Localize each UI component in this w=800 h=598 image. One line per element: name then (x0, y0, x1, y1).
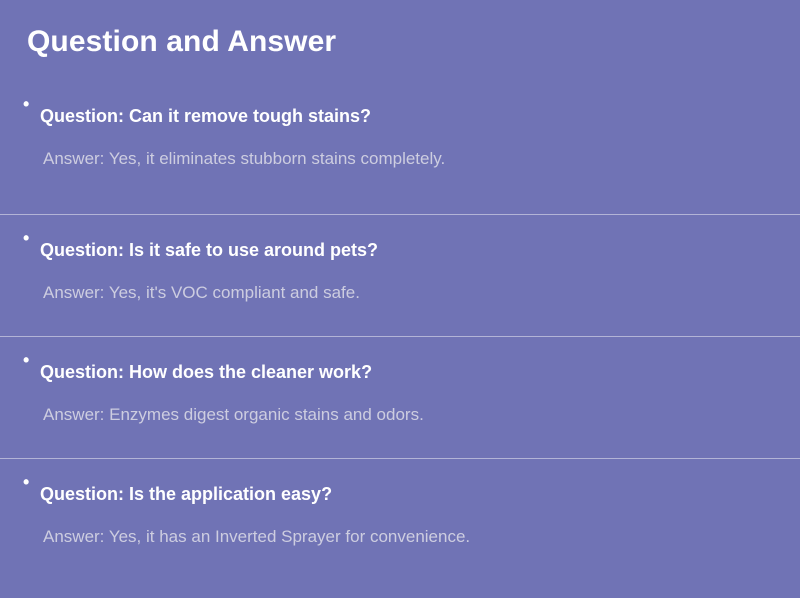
qa-question-text: Question: Is the application easy? (40, 484, 332, 504)
qa-question-text: Question: Is it safe to use around pets? (40, 240, 378, 260)
list-item: • Question: Is it safe to use around pet… (0, 214, 800, 336)
bullet-icon: • (23, 470, 29, 494)
list-item: • Question: How does the cleaner work? A… (0, 336, 800, 458)
qa-slide: Question and Answer • Question: Can it r… (0, 0, 800, 598)
list-item: • Question: Can it remove tough stains? … (0, 92, 800, 214)
qa-answer: Answer: Yes, it eliminates stubborn stai… (0, 128, 800, 170)
qa-answer: Answer: Yes, it has an Inverted Sprayer … (0, 506, 800, 548)
qa-question: • Question: How does the cleaner work? (0, 337, 800, 384)
qa-question-text: Question: How does the cleaner work? (40, 362, 372, 382)
qa-answer: Answer: Yes, it's VOC compliant and safe… (0, 262, 800, 304)
qa-question: • Question: Is the application easy? (0, 459, 800, 506)
qa-question: • Question: Can it remove tough stains? (0, 92, 800, 128)
bullet-icon: • (23, 348, 29, 372)
qa-question: • Question: Is it safe to use around pet… (0, 215, 800, 262)
qa-list: • Question: Can it remove tough stains? … (0, 92, 800, 580)
bullet-icon: • (23, 226, 29, 250)
qa-question-text: Question: Can it remove tough stains? (40, 106, 371, 126)
page-title: Question and Answer (27, 22, 336, 62)
bullet-icon: • (23, 92, 29, 116)
qa-answer: Answer: Enzymes digest organic stains an… (0, 384, 800, 426)
list-item: • Question: Is the application easy? Ans… (0, 458, 800, 580)
